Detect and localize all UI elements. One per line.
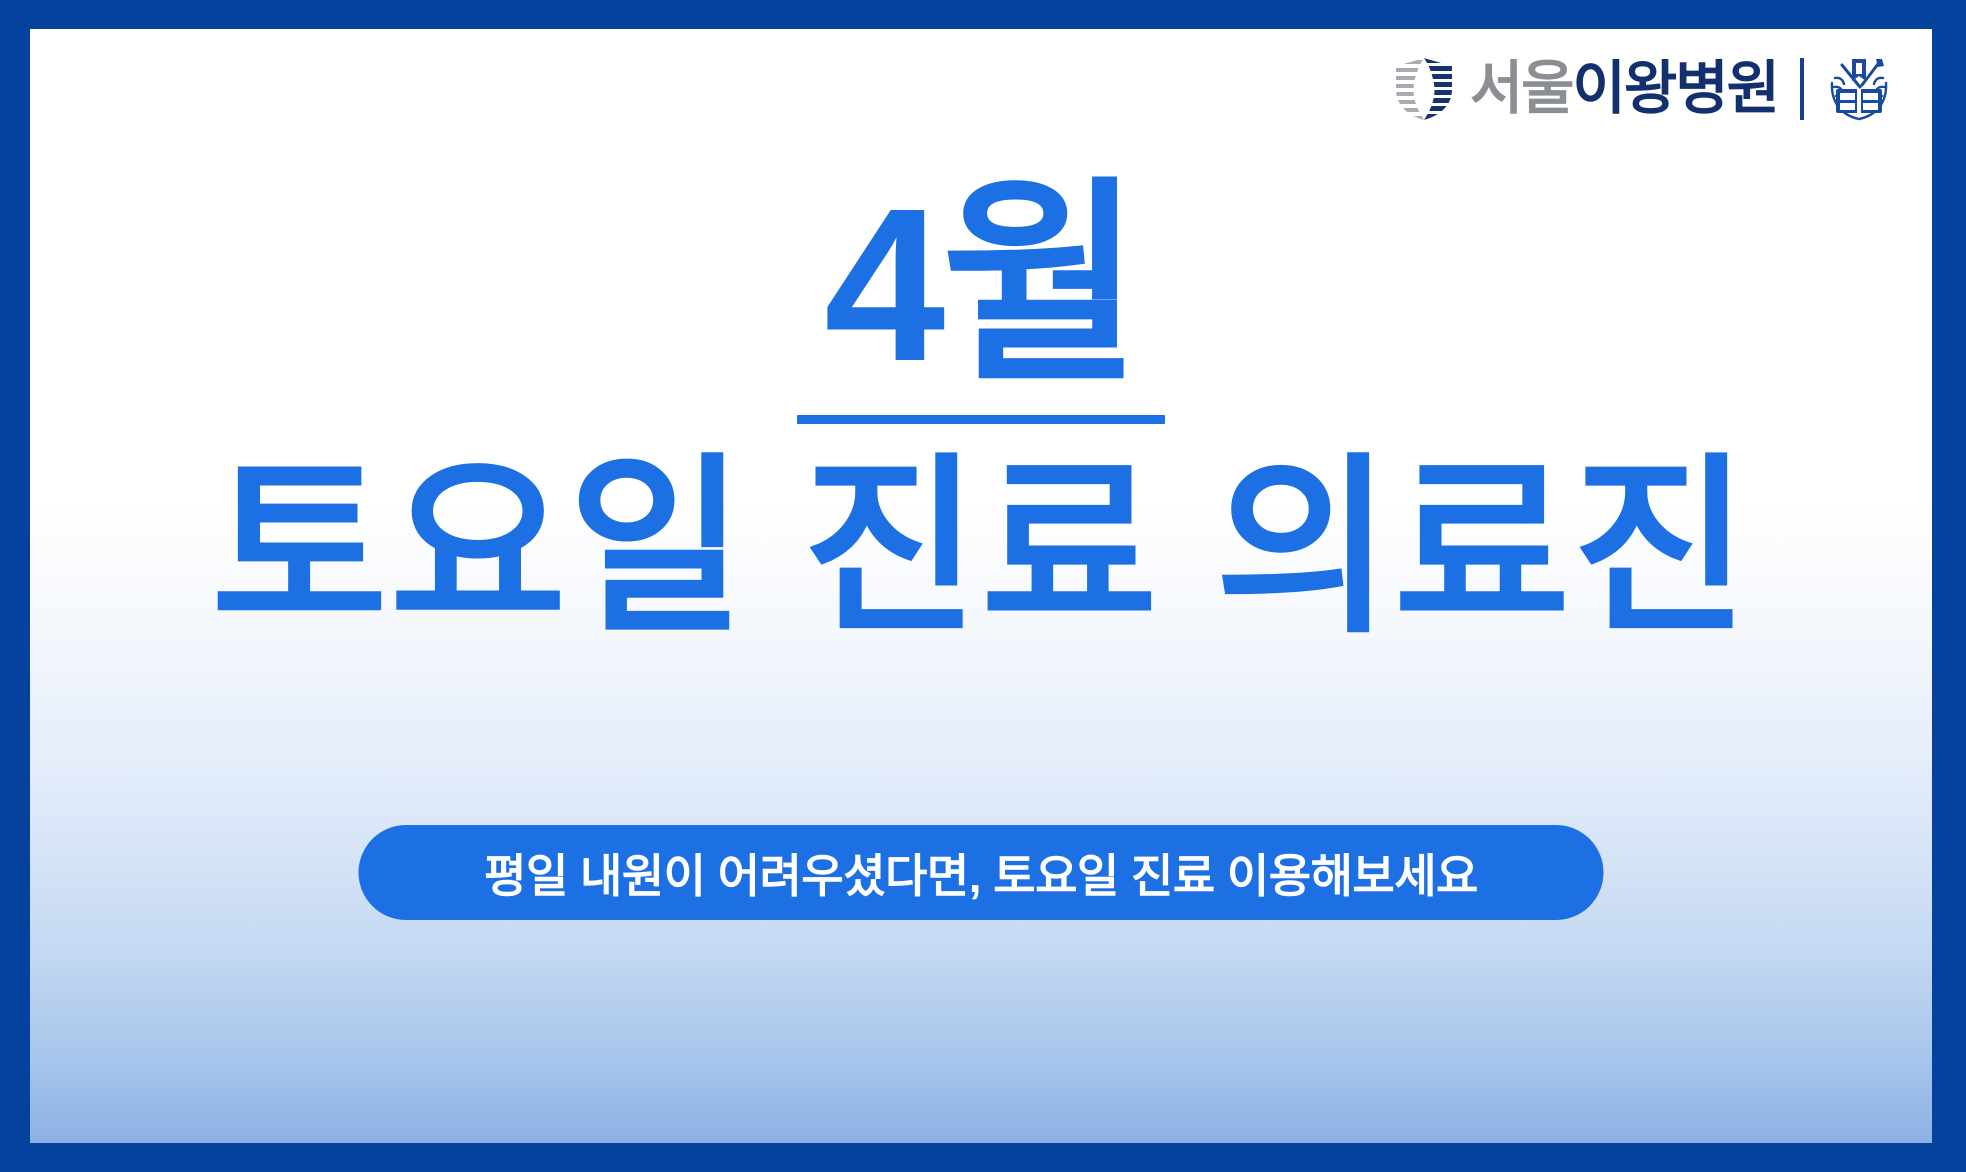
logo-divider — [1800, 58, 1804, 120]
title-underline-rule — [797, 415, 1165, 424]
headline-block: 4월 토요일 진료 의료진 — [30, 177, 1932, 644]
page-title: 토요일 진료 의료진 — [30, 452, 1932, 644]
hospital-wordmark: 서울 이왕병원 — [1470, 60, 1778, 118]
hospital-logo: 서울 이왕병원 — [1392, 51, 1894, 127]
subtitle-pill: 평일 내원이 어려우셨다면, 토요일 진료 이용해보세요 — [359, 825, 1604, 920]
poster-frame: 서울 이왕병원 — [0, 0, 1966, 1172]
month-title: 4월 — [30, 177, 1932, 395]
shield-icon — [1392, 56, 1456, 122]
subtitle-text: 평일 내원이 어려우셨다면, 토요일 진료 이용해보세요 — [484, 840, 1478, 906]
poster-canvas: 서울 이왕병원 — [30, 29, 1932, 1143]
wordmark-navy-text: 이왕병원 — [1573, 60, 1778, 118]
wordmark-gray-text: 서울 — [1470, 60, 1573, 118]
university-crest-icon — [1824, 53, 1894, 125]
